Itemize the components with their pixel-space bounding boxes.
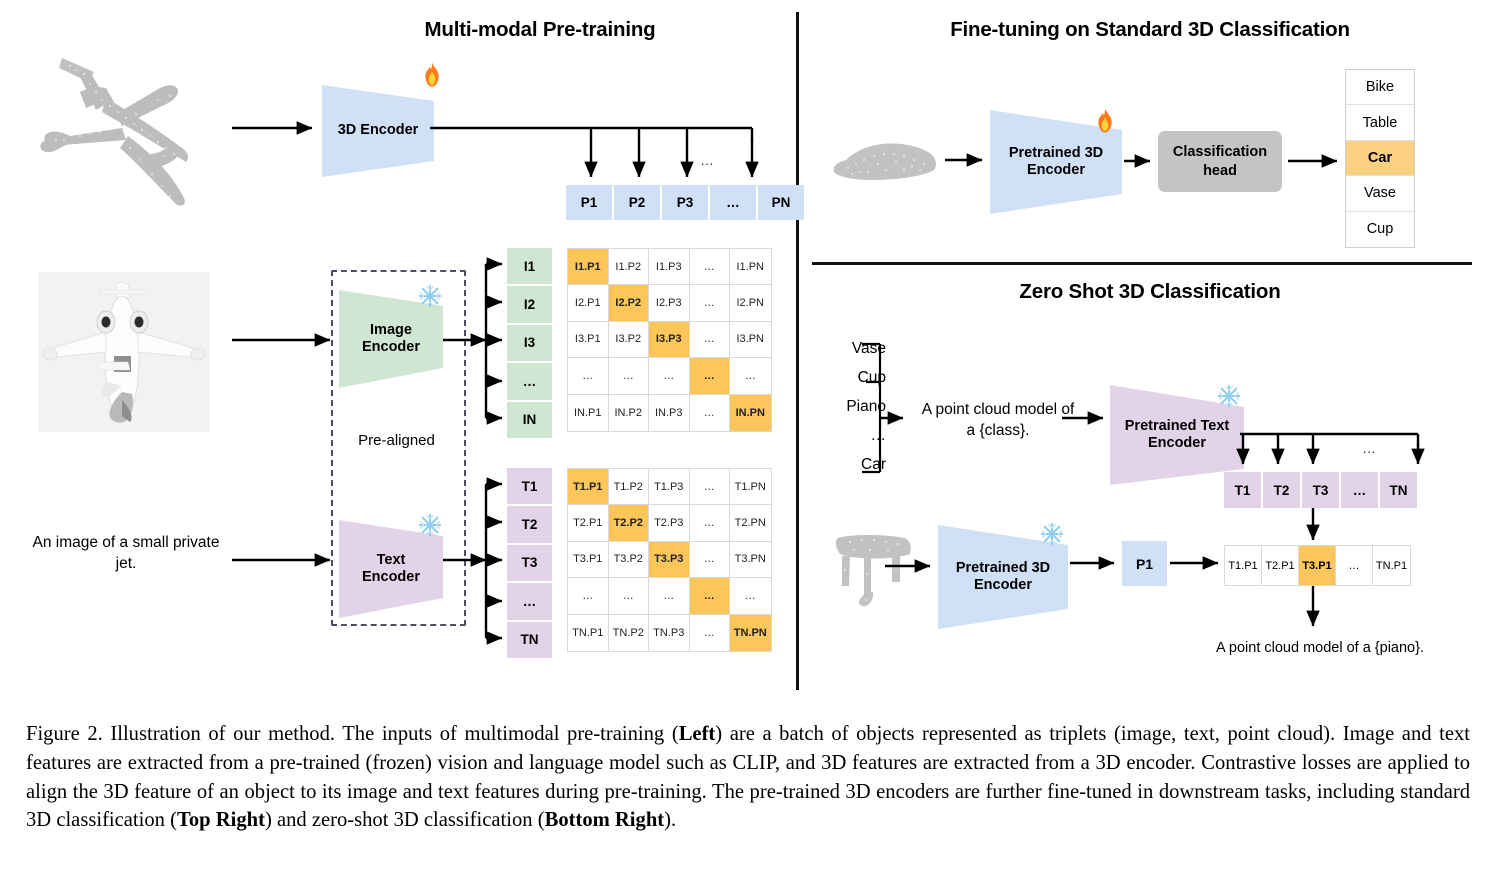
horizontal-divider xyxy=(812,262,1472,265)
class-prediction-list: BikeTableCarVaseCup xyxy=(1345,69,1415,248)
token-cell: T2 xyxy=(1263,472,1300,508)
snowflake-icon xyxy=(418,284,442,308)
token-label: IN xyxy=(507,402,552,438)
matrix-cell: … xyxy=(730,358,771,394)
matrix-cell: … xyxy=(690,249,731,285)
vertical-divider xyxy=(796,12,799,690)
text-encoder-line2: Encoder xyxy=(362,569,420,585)
matrix-cell: … xyxy=(690,358,731,394)
token-label: … xyxy=(507,363,552,399)
matrix-cell: I1.PN xyxy=(730,249,771,285)
matrix-cell: I2.P3 xyxy=(649,285,690,321)
token-label: I3 xyxy=(507,325,552,361)
class-list-item: Table xyxy=(1346,105,1414,140)
matrix-row: …………… xyxy=(568,578,771,614)
prealigned-label: Pre-aligned xyxy=(331,431,462,451)
matrix-row: I3.P1I3.P2I3.P3…I3.PN xyxy=(568,322,771,358)
snowflake-icon xyxy=(1217,384,1241,408)
ft-encoder-line2: Encoder xyxy=(1027,162,1085,178)
token-label: I1 xyxy=(507,248,552,284)
token-cell: T1 xyxy=(1224,472,1261,508)
token-label: I2 xyxy=(507,286,552,322)
top-right-title: Fine-tuning on Standard 3D Classificatio… xyxy=(840,18,1460,42)
matrix-cell: I1.P1 xyxy=(568,249,609,285)
matrix-cell: … xyxy=(690,542,731,578)
left-panel-title: Multi-modal Pre-training xyxy=(300,18,780,42)
image-token-stack: I1I2I3…IN xyxy=(507,248,552,438)
caption-text: ) and zero-shot 3D classification ( xyxy=(265,809,545,831)
matrix-cell: I3.P3 xyxy=(649,322,690,358)
matrix-cell: … xyxy=(690,395,731,431)
token-cell: P1 xyxy=(566,185,612,220)
matrix-cell: IN.PN xyxy=(730,395,771,431)
zs-ellipsis-top: … xyxy=(1362,440,1376,456)
matrix-cell: TN.P2 xyxy=(609,615,650,651)
matrix-cell: … xyxy=(568,358,609,394)
snowflake-icon xyxy=(418,513,442,537)
text-similarity-matrix: T1.P1T1.P2T1.P3…T1.PNT2.P1T2.P2T2.P3…T2.… xyxy=(567,468,772,652)
matrix-cell: T3.P2 xyxy=(609,542,650,578)
zeroshot-class-item: Car xyxy=(824,451,886,480)
zeroshot-class-item: Piano xyxy=(824,392,886,421)
zeroshot-class-item: … xyxy=(824,422,886,451)
flame-icon xyxy=(1095,108,1115,134)
matrix-cell: T2.P2 xyxy=(609,505,650,541)
matrix-cell: I3.P1 xyxy=(568,322,609,358)
token-cell: … xyxy=(1341,472,1378,508)
caption-text: ). xyxy=(664,809,676,831)
token-label: T3 xyxy=(507,545,552,581)
prompt-line2: a {class}. xyxy=(967,422,1030,439)
zs-t-token-row: T1T2T3…TN xyxy=(1224,472,1417,508)
matrix-cell: IN.P3 xyxy=(649,395,690,431)
matrix-cell: TN.P1 xyxy=(568,615,609,651)
matrix-cell: T1.P3 xyxy=(649,469,690,505)
class-list-item: Cup xyxy=(1346,212,1414,247)
token-cell: P3 xyxy=(662,185,708,220)
token-cell: PN xyxy=(758,185,804,220)
text-encoder-line1: Text xyxy=(377,552,406,568)
class-list-item: Vase xyxy=(1346,176,1414,211)
matrix-cell: T3.P1 xyxy=(568,542,609,578)
text-input-caption: An image of a small private jet. xyxy=(28,533,224,575)
matrix-cell: TN.PN xyxy=(730,615,771,651)
zs-similarity-row: T1.P1T2.P1T3.P1…TN.P1 xyxy=(1224,545,1411,586)
matrix-cell: I2.PN xyxy=(730,285,771,321)
matrix-cell: I3.P2 xyxy=(609,322,650,358)
matrix-cell: T1.P1 xyxy=(568,469,609,505)
figure-illustration: Multi-modal Pre-training xyxy=(0,0,1490,888)
matrix-cell: T1.P2 xyxy=(609,469,650,505)
figure-caption: Figure 2. Illustration of our method. Th… xyxy=(26,720,1470,835)
matrix-cell: T3.PN xyxy=(730,542,771,578)
prompt-line1: A point cloud model of xyxy=(922,401,1075,418)
token-label: T1 xyxy=(507,468,552,504)
matrix-row: T2.P1T2.P2T2.P3…T2.PN xyxy=(568,505,771,541)
text-token-stack: T1T2T3…TN xyxy=(507,468,552,658)
p-token-row: P1P2P3…PN xyxy=(566,185,804,220)
snowflake-icon xyxy=(1040,522,1064,546)
matrix-cell: TN.P3 xyxy=(649,615,690,651)
encoder-3d-block: 3D Encoder xyxy=(322,85,434,177)
matrix-cell: I2.P1 xyxy=(568,285,609,321)
matrix-cell: I2.P2 xyxy=(609,285,650,321)
matrix-cell: T2.P3 xyxy=(649,505,690,541)
matrix-cell: … xyxy=(649,358,690,394)
image-encoder-line1: Image xyxy=(370,322,412,338)
bottom-right-title: Zero Shot 3D Classification xyxy=(900,280,1400,304)
pretrained-text-encoder-label: Pretrained Text Encoder xyxy=(1125,418,1230,453)
image-similarity-matrix: I1.P1I1.P2I1.P3…I1.PNI2.P1I2.P2I2.P3…I2.… xyxy=(567,248,772,432)
matrix-row: I1.P1I1.P2I1.P3…I1.PN xyxy=(568,249,771,285)
zs-3d-enc-line1: Pretrained 3D xyxy=(956,560,1050,576)
matrix-row: TN.P1TN.P2TN.P3…TN.PN xyxy=(568,615,771,651)
image-encoder-label: Image Encoder xyxy=(362,322,420,357)
zeroshot-result-text: A point cloud model of a {piano}. xyxy=(1180,640,1460,656)
token-label: T2 xyxy=(507,506,552,542)
matrix-cell: … xyxy=(690,322,731,358)
token-cell: TN xyxy=(1380,472,1417,508)
matrix-cell: … xyxy=(730,578,771,614)
zeroshot-class-item: Vase xyxy=(824,334,886,363)
airplane-point-cloud xyxy=(10,40,215,220)
matrix-cell: … xyxy=(690,469,731,505)
token-cell: … xyxy=(710,185,756,220)
zs-text-enc-line2: Encoder xyxy=(1148,435,1206,451)
matrix-cell: … xyxy=(690,615,731,651)
zeroshot-class-list: VaseCupPiano…Car xyxy=(824,334,886,480)
matrix-cell: IN.P1 xyxy=(568,395,609,431)
class-list-item: Bike xyxy=(1346,70,1414,105)
matrix-cell: … xyxy=(690,505,731,541)
matrix-cell: IN.P2 xyxy=(609,395,650,431)
matrix-cell: … xyxy=(690,285,731,321)
classification-head-block: Classification head xyxy=(1158,131,1282,192)
matrix-cell: T3.P3 xyxy=(649,542,690,578)
matrix-row: …………… xyxy=(568,358,771,394)
pretrained-3d-encoder-label-ft: Pretrained 3D Encoder xyxy=(1009,145,1103,180)
car-point-cloud xyxy=(828,130,940,190)
zeroshot-sim-cell: T1.P1 xyxy=(1225,546,1262,585)
zs-3d-enc-line2: Encoder xyxy=(974,577,1032,593)
image-encoder-line2: Encoder xyxy=(362,339,420,355)
text-encoder-label: Text Encoder xyxy=(362,552,420,587)
matrix-cell: T2.P1 xyxy=(568,505,609,541)
zeroshot-class-item: Cup xyxy=(824,363,886,392)
matrix-cell: T1.PN xyxy=(730,469,771,505)
head-line2: head xyxy=(1203,163,1237,179)
zs-text-enc-line1: Pretrained Text xyxy=(1125,418,1230,434)
zeroshot-sim-cell: T3.P1 xyxy=(1299,546,1336,585)
pretrained-3d-encoder-label-zs: Pretrained 3D Encoder xyxy=(956,560,1050,595)
class-list-item: Car xyxy=(1346,141,1414,176)
classification-head-label: Classification head xyxy=(1173,143,1267,179)
ft-encoder-line1: Pretrained 3D xyxy=(1009,145,1103,161)
caption-bold: Bottom Right xyxy=(545,809,665,831)
matrix-row: T1.P1T1.P2T1.P3…T1.PN xyxy=(568,469,771,505)
caption-bold: Top Right xyxy=(177,809,265,831)
zeroshot-sim-cell: TN.P1 xyxy=(1373,546,1410,585)
flame-icon xyxy=(422,62,442,88)
zeroshot-sim-cell: T2.P1 xyxy=(1262,546,1299,585)
token-label: … xyxy=(507,583,552,619)
matrix-cell: … xyxy=(649,578,690,614)
matrix-cell: … xyxy=(609,358,650,394)
airplane-render-image xyxy=(38,272,210,432)
matrix-cell: I1.P2 xyxy=(609,249,650,285)
prompt-template-text: A point cloud model of a {class}. xyxy=(908,400,1088,442)
matrix-cell: … xyxy=(609,578,650,614)
caption-bold: Left xyxy=(679,723,716,745)
matrix-cell: T2.PN xyxy=(730,505,771,541)
matrix-cell: I3.PN xyxy=(730,322,771,358)
caption-text: Figure 2. Illustration of our method. Th… xyxy=(26,723,679,745)
token-label: TN xyxy=(507,622,552,658)
matrix-cell: … xyxy=(568,578,609,614)
zs-p1-box: P1 xyxy=(1122,541,1167,586)
left-ellipsis-top: … xyxy=(700,152,714,168)
encoder-3d-label: 3D Encoder xyxy=(338,122,419,139)
matrix-row: I2.P1I2.P2I2.P3…I2.PN xyxy=(568,285,771,321)
token-cell: P2 xyxy=(614,185,660,220)
piano-point-cloud xyxy=(830,530,922,610)
matrix-cell: … xyxy=(690,578,731,614)
matrix-cell: I1.P3 xyxy=(649,249,690,285)
matrix-row: IN.P1IN.P2IN.P3…IN.PN xyxy=(568,395,771,431)
head-line1: Classification xyxy=(1173,144,1267,160)
matrix-row: T3.P1T3.P2T3.P3…T3.PN xyxy=(568,542,771,578)
zeroshot-sim-cell: … xyxy=(1336,546,1373,585)
token-cell: T3 xyxy=(1302,472,1339,508)
